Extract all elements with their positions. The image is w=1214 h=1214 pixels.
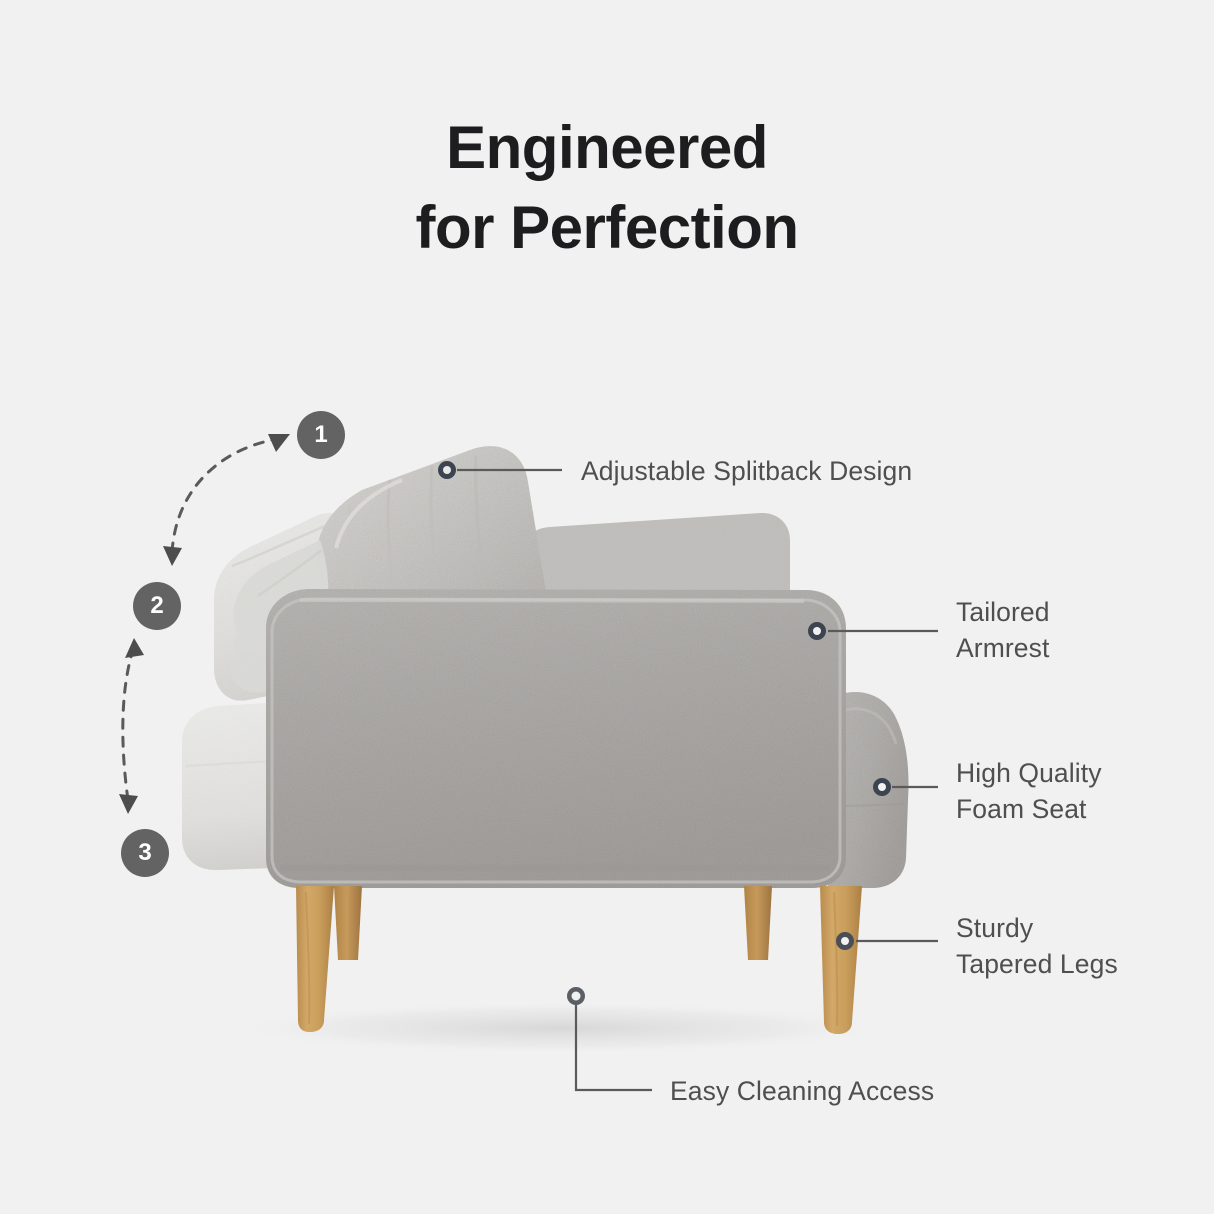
callout-label-legs: Sturdy Tapered Legs — [956, 910, 1118, 982]
step-arrow-1-tail-head — [163, 546, 182, 566]
callout-label-splitback: Adjustable Splitback Design — [581, 453, 912, 489]
leg-rear-left — [334, 886, 362, 960]
callout-label-cleaning: Easy Cleaning Access — [670, 1073, 934, 1109]
infographic-canvas: Engineered for Perfection — [0, 0, 1214, 1214]
step-badge-1[interactable]: 1 — [297, 411, 345, 459]
step-arrow-1 — [172, 440, 272, 552]
step-badge-2[interactable]: 2 — [133, 582, 181, 630]
step-badge-2-number: 2 — [150, 594, 163, 618]
callout-label-foam: High Quality Foam Seat — [956, 755, 1102, 827]
callout-label-armrest: Tailored Armrest — [956, 594, 1050, 666]
step-badge-1-number: 1 — [314, 423, 327, 447]
step-badge-3-number: 3 — [138, 841, 151, 865]
leg-front-right — [820, 886, 862, 1034]
step-arrow-2 — [123, 650, 133, 800]
tailored-armrest — [266, 589, 846, 888]
step-badge-3[interactable]: 3 — [121, 829, 169, 877]
floor-shadow — [230, 1002, 890, 1054]
step-arrow-2-head — [125, 638, 144, 658]
leg-rear-right — [744, 886, 772, 960]
step-arrow-1-head — [268, 434, 290, 452]
step-arrow-2-tail-head — [119, 794, 138, 814]
